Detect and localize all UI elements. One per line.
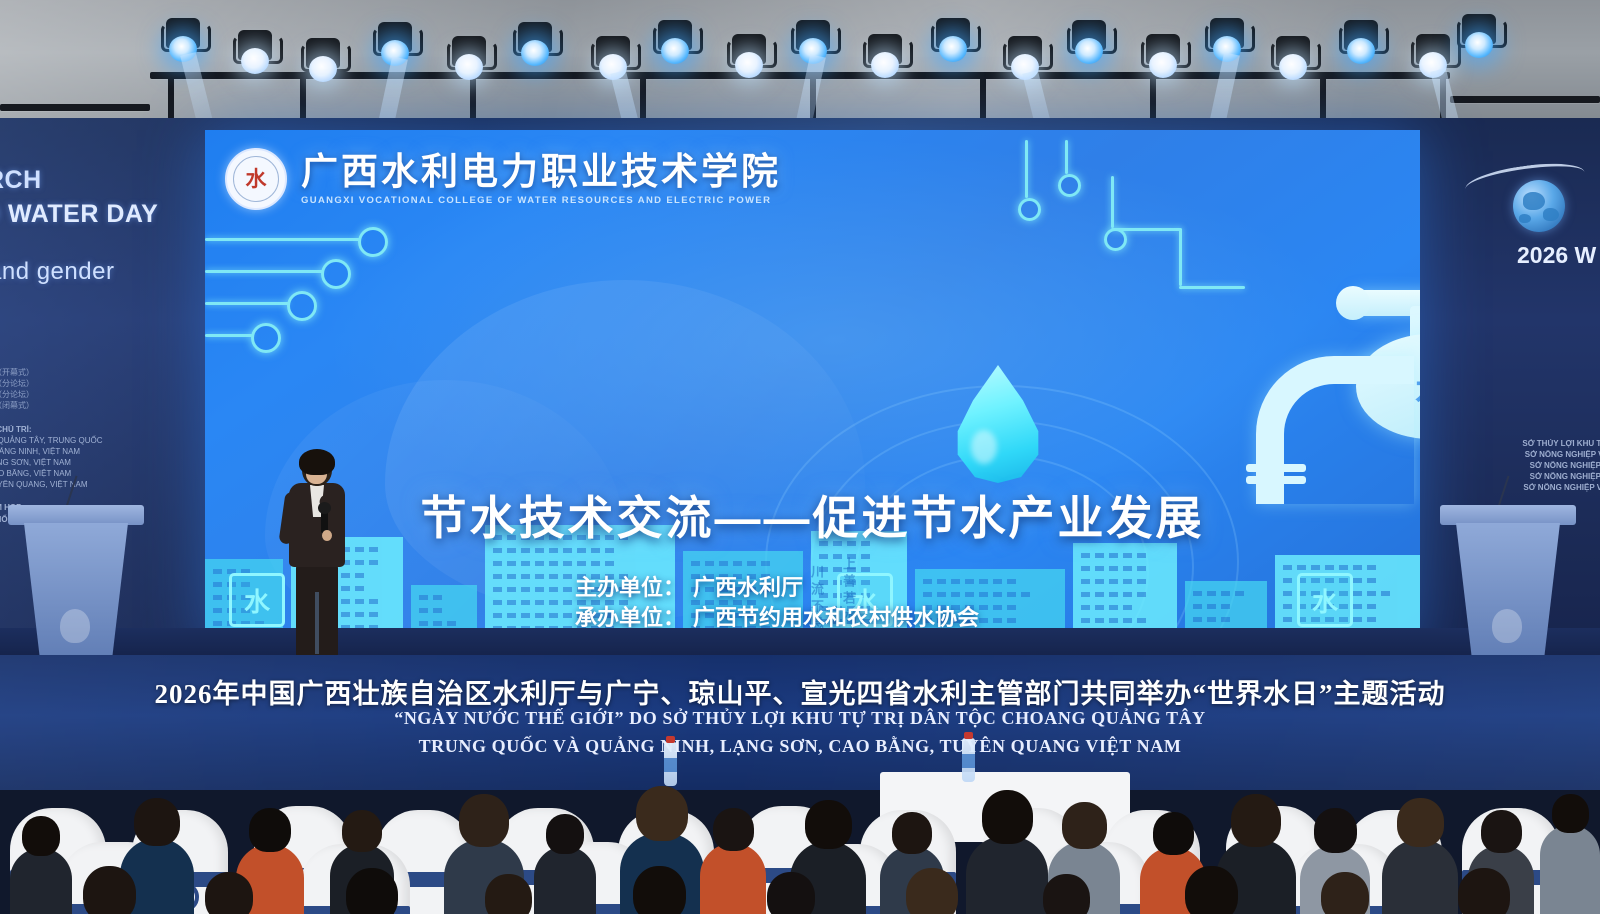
attendee-head [546, 814, 584, 854]
wing-right-vn-1: SỞ NÔNG NGHIỆP VÀ MT [1463, 449, 1600, 460]
attendee [1442, 868, 1526, 914]
lectern-left [16, 505, 136, 665]
meta-key-host: 主办单位： [575, 573, 693, 603]
lectern-left-top [8, 505, 144, 525]
wing-left-cn-3: 日上午（分论坛） [0, 389, 34, 400]
building-windows [1081, 605, 1132, 610]
attendee [66, 866, 152, 914]
wing-right-vn-4: SỞ NÔNG NGHIỆP VÀ MO [1463, 482, 1600, 493]
faucet-icon: 水 [1160, 278, 1420, 503]
building-windows [419, 621, 456, 626]
circuit-node [1104, 228, 1127, 251]
stage-light [160, 18, 206, 64]
building-windows [691, 561, 770, 566]
attendee [1540, 794, 1600, 914]
globe-icon [1513, 180, 1565, 232]
wing-right-vn-2: SỞ NÔNG NGHIỆP VÀ M [1463, 460, 1600, 471]
institution-name-cn: 广西水利电力职业技术学院 [301, 152, 781, 191]
truss-beam [1450, 96, 1600, 103]
attendee [330, 868, 414, 914]
presenter-leg-gap [315, 592, 319, 654]
stage-light [1204, 18, 1250, 64]
stage-light [930, 18, 976, 64]
lectern-right-body [1456, 523, 1560, 665]
city-badge-right: 水 [1297, 573, 1353, 627]
water-bottle-1 [962, 738, 975, 782]
meta-row-host: 主办单位： 广西水利厅 [575, 573, 979, 603]
truss-beam [0, 104, 150, 111]
presenter-hand [322, 530, 332, 541]
stage-light [512, 22, 558, 68]
wing-left-vn-3: TỈNH CAO BẰNG, VIỆT NAM [0, 468, 102, 479]
circuit-node [1058, 174, 1081, 197]
attendee-head [1185, 866, 1238, 914]
wing-left-line-2: D WATER DAY [0, 200, 158, 229]
presenter [280, 452, 352, 657]
building-windows [419, 608, 442, 613]
wing-right-year: 2026 W [1517, 242, 1596, 269]
attendee-head [83, 866, 136, 914]
wing-left-vn-1: TỈNH QUẢNG NINH, VIỆT NAM [0, 446, 102, 457]
building-windows [493, 548, 614, 553]
building-windows [493, 561, 614, 566]
circuit-node [251, 323, 281, 353]
circuit-trace [205, 238, 360, 241]
attendee-head [1153, 812, 1194, 855]
circuit-trace [205, 270, 323, 273]
attendee-head [633, 866, 686, 914]
wing-left-cn-1: 日上午（开幕式） [0, 367, 34, 378]
circuit-node [287, 291, 317, 321]
attendee-head [346, 868, 398, 914]
stage-light [1410, 34, 1456, 80]
attendee-head [1043, 874, 1090, 914]
slide-title: 节水技术交流——促进节水产业发展 [205, 482, 1420, 548]
wing-right-vn-block: SỞ THỦY LỢI KHU TỰ TRỊ SỞ NÔNG NGHIỆP VÀ… [1463, 438, 1600, 493]
attendee-head [1481, 810, 1522, 853]
attendee-head [713, 808, 754, 851]
building-windows [1081, 592, 1146, 597]
attendee [1306, 872, 1384, 914]
wing-left-vn-4: TỈNH TUYÊN QUANG, VIỆT NAM [0, 479, 102, 490]
building-windows [1193, 617, 1230, 622]
attendee-head [636, 786, 688, 841]
lectern-right-emblem [1492, 609, 1522, 643]
attendee [1168, 866, 1254, 914]
presenter-microphone-head [318, 502, 331, 514]
building-windows [1081, 579, 1146, 584]
wing-left-line-1: RCH [0, 166, 42, 195]
attendee-head [134, 798, 180, 846]
attendee-shoulders [10, 848, 72, 914]
attendee-head [249, 808, 291, 852]
attendee-head [1321, 872, 1369, 914]
building-windows [1283, 565, 1376, 570]
wing-right-vn-3: SỞ NÔNG NGHIỆP VÀ M [1463, 471, 1600, 482]
circuit-node [1018, 198, 1041, 221]
wing-left-vn-0: HOÀNG QUẢNG TÂY, TRUNG QUỐC [0, 435, 102, 446]
stage-light [590, 36, 636, 82]
water-drop-highlight [971, 430, 997, 464]
stage-light [862, 34, 908, 80]
faucet-collar-1 [1246, 464, 1306, 472]
wing-right-vn-0: SỞ THỦY LỢI KHU TỰ TRỊ [1463, 438, 1600, 449]
circuit-trace [1025, 140, 1028, 198]
attendee-head [342, 810, 382, 852]
attendee [470, 874, 546, 914]
stage-light [300, 38, 346, 84]
attendee-head [1314, 808, 1357, 853]
screenshot-root: RCH D WATER DAY and gender 间： 日上午（开幕式） 日… [0, 0, 1600, 914]
stage-light [232, 30, 278, 76]
audience-area [0, 690, 1600, 914]
circuit-node [321, 259, 351, 289]
crest-logo: 水 [225, 148, 287, 210]
slide-header: 水 广西水利电力职业技术学院 GUANGXI VOCATIONAL COLLEG… [225, 148, 781, 210]
led-screen-slide: 水 广西水利电力职业技术学院 GUANGXI VOCATIONAL COLLEG… [205, 130, 1420, 655]
wing-left-cn-2: 日下午（分论坛） [0, 378, 34, 389]
attendee-head [805, 800, 852, 849]
circuit-node [358, 227, 388, 257]
wing-left-cn-block: 间： 日上午（开幕式） 日下午（分论坛） 日上午（分论坛） 日下午（闭幕式） [0, 356, 34, 411]
attendee-head [205, 872, 253, 914]
attendee [10, 816, 72, 914]
lectern-left-emblem [60, 609, 90, 643]
building-windows [1081, 566, 1146, 571]
stage-light [446, 36, 492, 82]
attendee-head [459, 794, 509, 847]
stage-light [790, 20, 836, 66]
lectern-right-top [1440, 505, 1576, 525]
city-badge-left: 水 [229, 573, 285, 627]
stage-light [372, 22, 418, 68]
circuit-trace [205, 334, 253, 337]
meta-value-host: 广西水利厅 [693, 573, 803, 603]
stage-light [1338, 20, 1384, 66]
wing-left-vn-2: TỈNH LẠNG SƠN, VIỆT NAM [0, 457, 102, 468]
attendee-head [892, 812, 932, 854]
stage-light [652, 20, 698, 66]
attendee-head [1458, 868, 1510, 914]
attendee-head [767, 872, 815, 914]
stage-light [1456, 14, 1502, 60]
wing-left-vn-heading: ĐƠN VỊ CHỦ TRÌ: [0, 424, 102, 435]
building-windows [1081, 618, 1146, 623]
attendee [1028, 874, 1104, 914]
institution-name-en: GUANGXI VOCATIONAL COLLEGE OF WATER RESO… [301, 195, 781, 206]
stage-light [1002, 36, 1048, 82]
lectern-right [1448, 505, 1568, 665]
circuit-trace [1111, 228, 1181, 231]
presenter-hair [299, 449, 335, 475]
circuit-trace [1111, 176, 1114, 228]
circuit-trace [1065, 140, 1068, 174]
stage-light [1270, 36, 1316, 82]
faucet-knob-left [1336, 286, 1370, 320]
stage-light [726, 34, 772, 80]
attendee-shoulders [1540, 825, 1600, 914]
attendee-head [485, 874, 532, 914]
wing-left-cn-0: 间： [0, 356, 34, 367]
attendee-head [1062, 802, 1107, 849]
attendee [616, 866, 702, 914]
wing-left-cn-4: 日下午（闭幕式） [0, 400, 34, 411]
attendee-head [982, 790, 1033, 844]
attendee [190, 872, 268, 914]
attendee-head [1231, 794, 1281, 847]
wing-left-vn-block: ĐƠN VỊ CHỦ TRÌ: HOÀNG QUẢNG TÂY, TRUNG Q… [0, 424, 102, 490]
attendee-head [1397, 798, 1444, 847]
lectern-left-body [24, 523, 128, 665]
building-windows [1193, 591, 1244, 596]
water-bottle-2 [664, 742, 677, 786]
building-windows [1193, 604, 1230, 609]
attendee-head [906, 868, 958, 914]
stage-light [1066, 20, 1112, 66]
crest-mark: 水 [246, 169, 267, 190]
attendee-head [22, 816, 60, 856]
attendee [890, 868, 974, 914]
circuit-trace [205, 302, 289, 305]
attendee [752, 872, 830, 914]
stage-light [1140, 34, 1186, 80]
building-windows [419, 595, 442, 600]
wing-left-line-3: and gender [0, 258, 114, 286]
attendee-head [1552, 794, 1589, 833]
building-windows [1081, 553, 1146, 558]
